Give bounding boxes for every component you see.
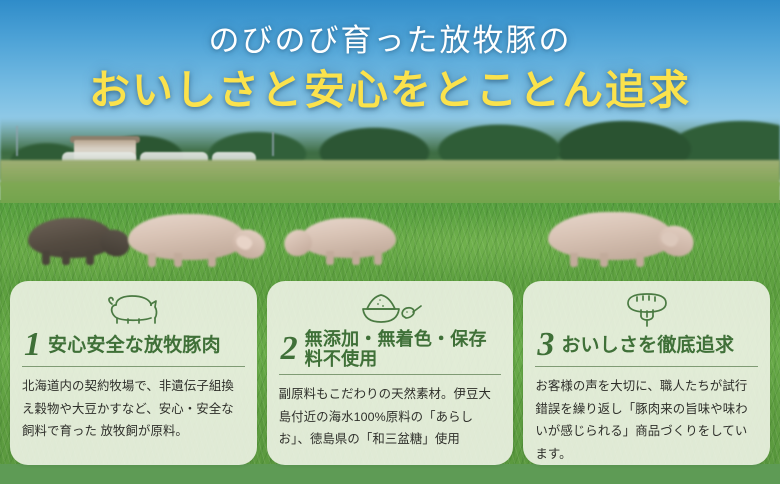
salt-bowl-icon <box>279 291 502 327</box>
pig <box>300 218 396 258</box>
card-heading: 3 おいしさを徹底追求 <box>535 329 758 367</box>
feature-card-3: 3 おいしさを徹底追求 お客様の声を大切に、職人たちが試行錯誤を繰り返し「豚肉来… <box>523 281 770 465</box>
card-body-text: お客様の声を大切に、職人たちが試行錯誤を繰り返し「豚肉来の旨味や味わいが感じられ… <box>535 375 758 465</box>
card-number: 3 <box>537 329 554 361</box>
pig <box>128 214 246 260</box>
card-heading: 1 安心安全な放牧豚肉 <box>22 329 245 367</box>
feature-cards: 1 安心安全な放牧豚肉 北海道内の契約牧場で、非遺伝子組換え穀物や大豆かすなど、… <box>10 281 770 465</box>
card-title: 無添加・無着色・保存料不使用 <box>305 329 500 369</box>
pig-icon <box>22 291 245 327</box>
utility-pole <box>16 126 18 156</box>
card-body-text: 北海道内の契約牧場で、非遺伝子組換え穀物や大豆かすなど、安心・安全な飼料で育った… <box>22 375 245 443</box>
card-title: 安心安全な放牧豚肉 <box>48 335 221 356</box>
headline-line-2: おいしさと安心をとことん追求 <box>0 66 780 115</box>
headline-block: のびのび育った放牧豚の おいしさと安心をとことん追求 <box>0 22 780 115</box>
feature-card-1: 1 安心安全な放牧豚肉 北海道内の契約牧場で、非遺伝子組換え穀物や大豆かすなど、… <box>10 281 257 465</box>
card-title: おいしさを徹底追求 <box>561 335 734 356</box>
utility-pole <box>272 132 274 156</box>
pig <box>28 218 114 258</box>
feature-card-2: 2 無添加・無着色・保存料不使用 副原料もこだわりの天然素材。伊豆大島付近の海水… <box>267 281 514 465</box>
card-number: 2 <box>281 333 298 365</box>
pig <box>548 212 674 260</box>
sausage-fork-icon <box>535 291 758 327</box>
card-body-text: 副原料もこだわりの天然素材。伊豆大島付近の海水100%原料の「あらしお」、徳島県… <box>279 383 502 451</box>
headline-line-1: のびのび育った放牧豚の <box>0 22 780 59</box>
card-number: 1 <box>24 329 41 361</box>
card-heading: 2 無添加・無着色・保存料不使用 <box>279 329 502 375</box>
promo-banner: のびのび育った放牧豚の おいしさと安心をとことん追求 1 安心安 <box>0 0 780 484</box>
footer-band <box>0 464 780 484</box>
